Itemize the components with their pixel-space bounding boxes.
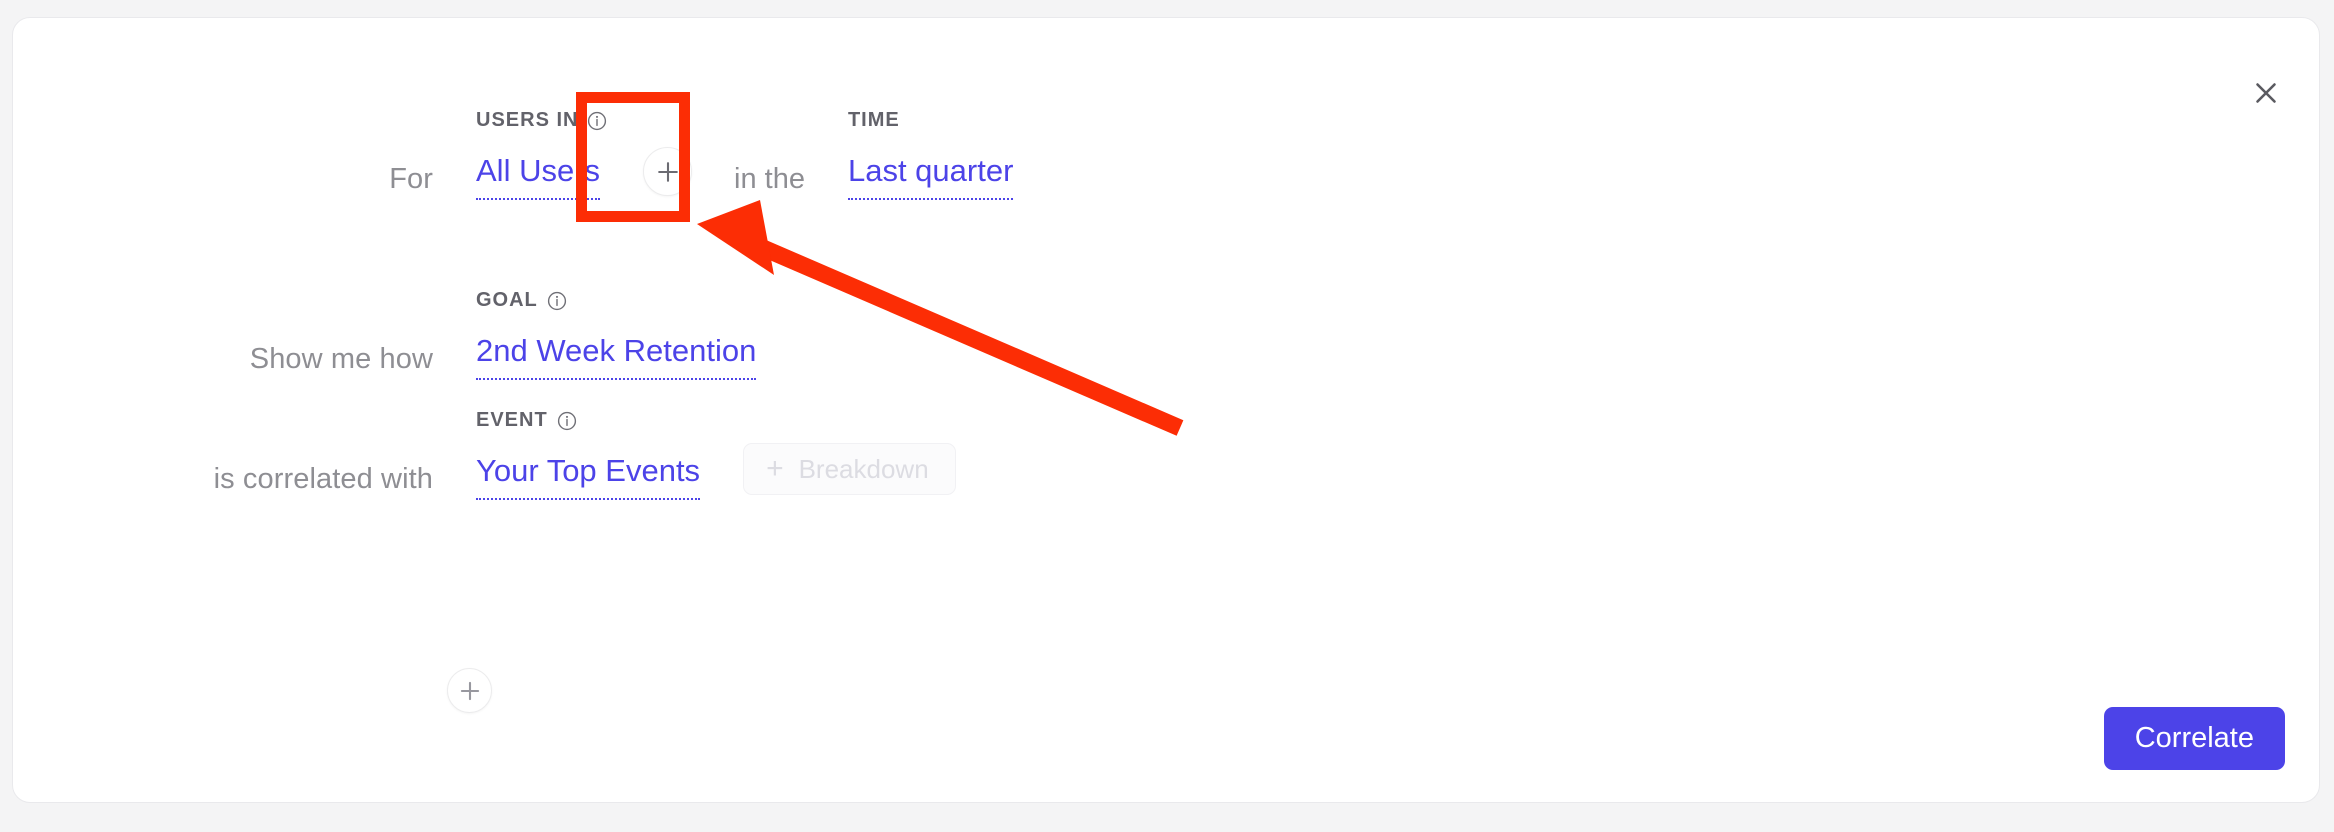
add-query-row-slot xyxy=(447,668,492,713)
row-prefix-is-correlated-with: is correlated with xyxy=(13,462,433,500)
row-prefix-for: For xyxy=(13,162,433,200)
event-value[interactable]: Your Top Events xyxy=(476,453,700,500)
correlate-button[interactable]: Correlate xyxy=(2104,707,2285,770)
close-button[interactable] xyxy=(2249,76,2283,110)
plus-icon xyxy=(655,159,681,185)
goal-field: GOAL 2nd Week Retention xyxy=(476,333,756,380)
correlation-query-card: For USERS IN All Users xyxy=(12,17,2320,803)
row-prefix-show-me-how: Show me how xyxy=(13,342,433,380)
info-icon[interactable] xyxy=(587,111,607,131)
goal-label-group: GOAL xyxy=(476,289,567,312)
users-in-field: USERS IN All Users xyxy=(476,153,600,200)
query-row-event: is correlated with EVENT Your Top Event xyxy=(13,436,956,500)
add-cohort-slot xyxy=(643,147,692,196)
close-icon xyxy=(2253,80,2279,106)
plus-icon: + xyxy=(766,454,784,484)
time-label: TIME xyxy=(848,109,900,132)
info-icon[interactable] xyxy=(557,411,577,431)
time-field: TIME Last quarter xyxy=(848,153,1013,200)
info-icon[interactable] xyxy=(547,291,567,311)
time-value[interactable]: Last quarter xyxy=(848,153,1013,200)
plus-icon xyxy=(458,679,482,703)
query-row-users: For USERS IN All Users xyxy=(13,136,1013,200)
event-label: EVENT xyxy=(476,409,548,432)
goal-label: GOAL xyxy=(476,289,538,312)
row-connector-in-the: in the xyxy=(734,162,805,200)
time-label-group: TIME xyxy=(848,109,900,132)
query-row-goal: Show me how GOAL 2nd Week Retention xyxy=(13,316,756,380)
event-field: EVENT Your Top Events xyxy=(476,453,700,500)
users-in-label: USERS IN xyxy=(476,109,578,132)
goal-value[interactable]: 2nd Week Retention xyxy=(476,333,756,380)
add-query-row-button[interactable] xyxy=(447,668,492,713)
breakdown-label: Breakdown xyxy=(799,454,929,485)
add-breakdown-button[interactable]: + Breakdown xyxy=(743,443,956,495)
users-in-value[interactable]: All Users xyxy=(476,153,600,200)
event-label-group: EVENT xyxy=(476,409,577,432)
screen: For USERS IN All Users xyxy=(0,0,2334,832)
users-in-label-group: USERS IN xyxy=(476,109,607,132)
add-cohort-plus-button[interactable] xyxy=(643,147,692,196)
